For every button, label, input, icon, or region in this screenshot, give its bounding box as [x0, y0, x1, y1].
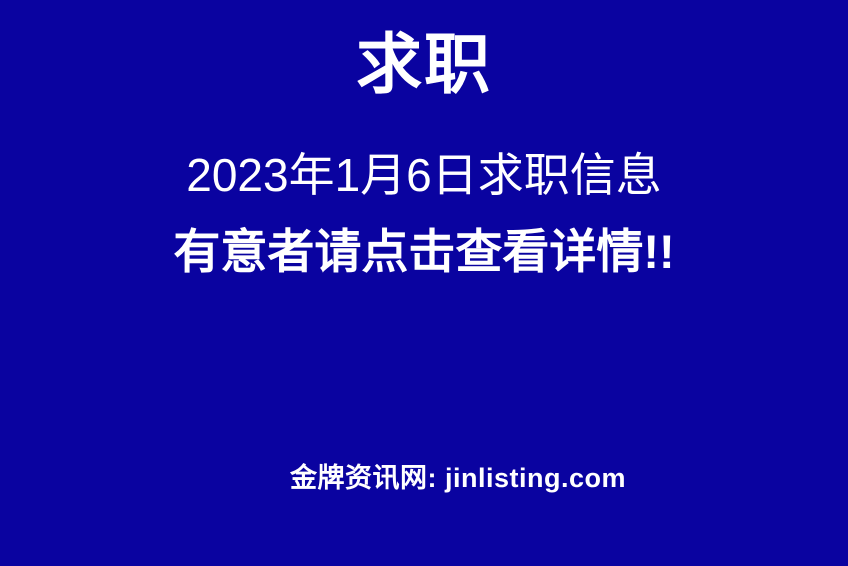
call-to-action-line[interactable]: 有意者请点击查看详情!! — [0, 228, 848, 275]
page-title: 求职 — [0, 28, 848, 102]
posting-date-line: 2023年1月6日求职信息 — [0, 152, 848, 198]
poster-body: 2023年1月6日求职信息 有意者请点击查看详情!! — [0, 152, 848, 275]
job-posting-poster: 求职 2023年1月6日求职信息 有意者请点击查看详情!! 金牌资讯网: jin… — [0, 0, 848, 566]
brand-watermark: 金牌资讯网: jinlisting.com — [0, 456, 848, 495]
